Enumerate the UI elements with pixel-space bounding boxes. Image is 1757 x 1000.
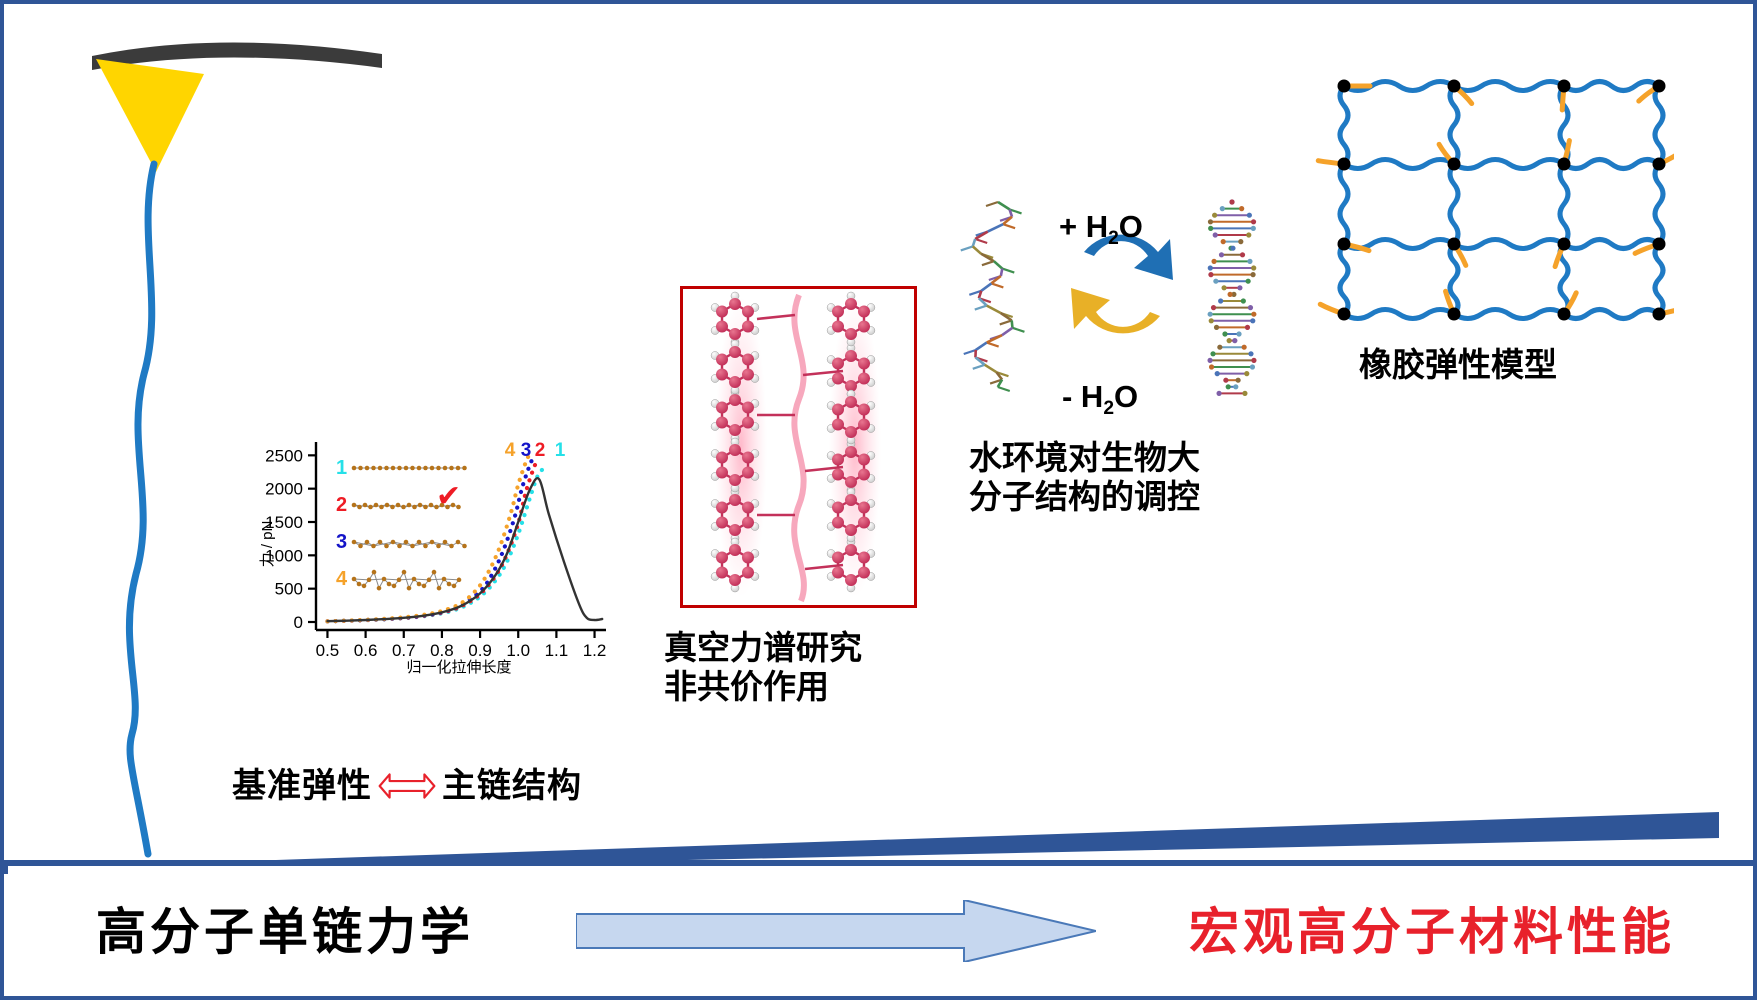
chart-series-label-2: 2 — [535, 440, 546, 461]
afm-tip-icon — [96, 59, 204, 172]
add-water-tail: O — [1119, 209, 1143, 244]
chart-y-tick: 2500 — [265, 446, 303, 465]
add-water-subscript: 2 — [1108, 228, 1119, 249]
add-water-sign: + H — [1059, 209, 1108, 244]
chart-series-label-3: 3 — [521, 440, 532, 461]
chart-y-tick: 0 — [294, 613, 303, 632]
rubber-chain-v — [1340, 86, 1348, 164]
rubber-chain-h — [1344, 310, 1454, 319]
rubber-chain-h — [1564, 160, 1659, 169]
polymer-single-chain — [129, 164, 154, 854]
conformer-legend-1: 1 — [336, 457, 347, 479]
rubber-network-node — [1338, 238, 1351, 251]
chart-y-axis-title: 力 / pN — [259, 521, 276, 568]
rubber-network-node — [1558, 238, 1571, 251]
caption-rubber-elasticity-model: 橡胶弹性模型 — [1359, 346, 1557, 385]
conformer-legend-2: 2 — [336, 494, 347, 516]
conformer-model-3 — [352, 540, 467, 549]
unfolded-biomolecule-structure — [961, 202, 1025, 391]
rubber-network-node — [1653, 308, 1666, 321]
rubber-network-node — [1653, 158, 1666, 171]
polystyrene-chain-diagram — [683, 289, 914, 605]
rubber-network-node — [1448, 80, 1461, 93]
rubber-network-node — [1558, 80, 1571, 93]
chart-x-axis-title: 归一化拉伸长度 — [406, 659, 511, 676]
chart-y-tick: 500 — [275, 580, 303, 599]
rubber-network-node — [1653, 238, 1666, 251]
rubber-network-node — [1448, 158, 1461, 171]
scale-wedge — [4, 794, 1757, 874]
right-arrow-icon — [576, 900, 1096, 962]
chart-y-tick: 2000 — [265, 480, 303, 499]
caption-vacuum-force-spectroscopy: 真空力谱研究 非共价作用 — [664, 629, 862, 707]
rubber-chain-h — [1344, 160, 1454, 169]
rubber-chain-v — [1655, 86, 1663, 164]
caption-water-regulation: 水环境对生物大 分子结构的调控 — [969, 439, 1200, 517]
chart-x-tick: 1.0 — [506, 641, 530, 660]
check-mark-icon: ✔ — [436, 479, 461, 514]
rubber-network-node — [1338, 158, 1351, 171]
folded-dna-helix-structure — [1207, 199, 1256, 396]
chart-x-tick: 1.1 — [545, 641, 569, 660]
rubber-network-illustration — [1314, 64, 1674, 324]
chart-x-tick-labels: 0.50.60.70.80.91.01.11.2 — [316, 641, 607, 660]
rubber-network-node — [1653, 80, 1666, 93]
conformer-model-1 — [352, 466, 467, 471]
chart-series-experimental — [327, 478, 602, 621]
rubber-chain-h — [1454, 310, 1564, 319]
remove-water-label: - H2O — [1062, 379, 1138, 420]
rubber-network-node — [1558, 308, 1571, 321]
banner-left-text: 高分子单链力学 — [96, 892, 474, 964]
rubber-chain-v — [1450, 164, 1458, 244]
remove-water-subscript: 2 — [1103, 398, 1114, 419]
rubber-chain-v — [1340, 244, 1348, 314]
vacuum-polymer-structure-panel — [680, 286, 917, 608]
rubber-chain-v — [1560, 164, 1568, 244]
remove-water-sign: - H — [1062, 379, 1103, 414]
rubber-chain-h — [1454, 82, 1564, 91]
rubber-chain-v — [1450, 86, 1458, 164]
rubber-network-node — [1448, 308, 1461, 321]
rubber-chain-v — [1340, 164, 1348, 244]
conformer-model-4 — [352, 570, 462, 591]
chart-x-tick: 0.7 — [392, 641, 416, 660]
chart-series-3 — [327, 457, 533, 621]
graphical-abstract-figure: 05001000150020002500 0.50.60.70.80.91.01… — [0, 0, 1757, 1000]
conformer-legend-4: 4 — [336, 568, 348, 590]
rubber-chain-h — [1564, 82, 1659, 91]
add-water-label: + H2O — [1059, 209, 1143, 250]
chart-series-layer — [327, 454, 602, 621]
chart-series-labels: 4321 — [505, 440, 566, 461]
conformer-legend-3: 3 — [336, 531, 347, 553]
rubber-network-node — [1558, 158, 1571, 171]
rubber-chain-v — [1655, 164, 1663, 244]
rubber-network-node — [1338, 308, 1351, 321]
chart-series-label-4: 4 — [505, 440, 516, 461]
chart-x-tick: 0.6 — [354, 641, 378, 660]
chart-x-tick: 0.5 — [316, 641, 340, 660]
rubber-network-node — [1338, 80, 1351, 93]
chart-x-tick: 1.2 — [583, 641, 607, 660]
remove-water-tail: O — [1114, 379, 1138, 414]
banner-right-text: 宏观高分子材料性能 — [1189, 892, 1675, 964]
afm-cantilever-icon — [92, 42, 382, 70]
dehydration-arrow-back — [1071, 288, 1160, 333]
chart-series-4 — [327, 454, 529, 621]
rubber-chain-h — [1454, 160, 1564, 169]
conformer-legend-numbers: 1234 — [336, 457, 348, 590]
chart-x-tick: 0.8 — [430, 641, 454, 660]
rubber-chain-v — [1655, 244, 1663, 314]
rubber-chain-h — [1564, 310, 1659, 319]
rubber-chain-h — [1454, 240, 1564, 249]
chart-x-tick: 0.9 — [468, 641, 492, 660]
chart-series-label-1: 1 — [555, 440, 566, 461]
rubber-network-node — [1448, 238, 1461, 251]
force-extension-chart: 05001000150020002500 0.50.60.70.80.91.01… — [254, 434, 654, 694]
